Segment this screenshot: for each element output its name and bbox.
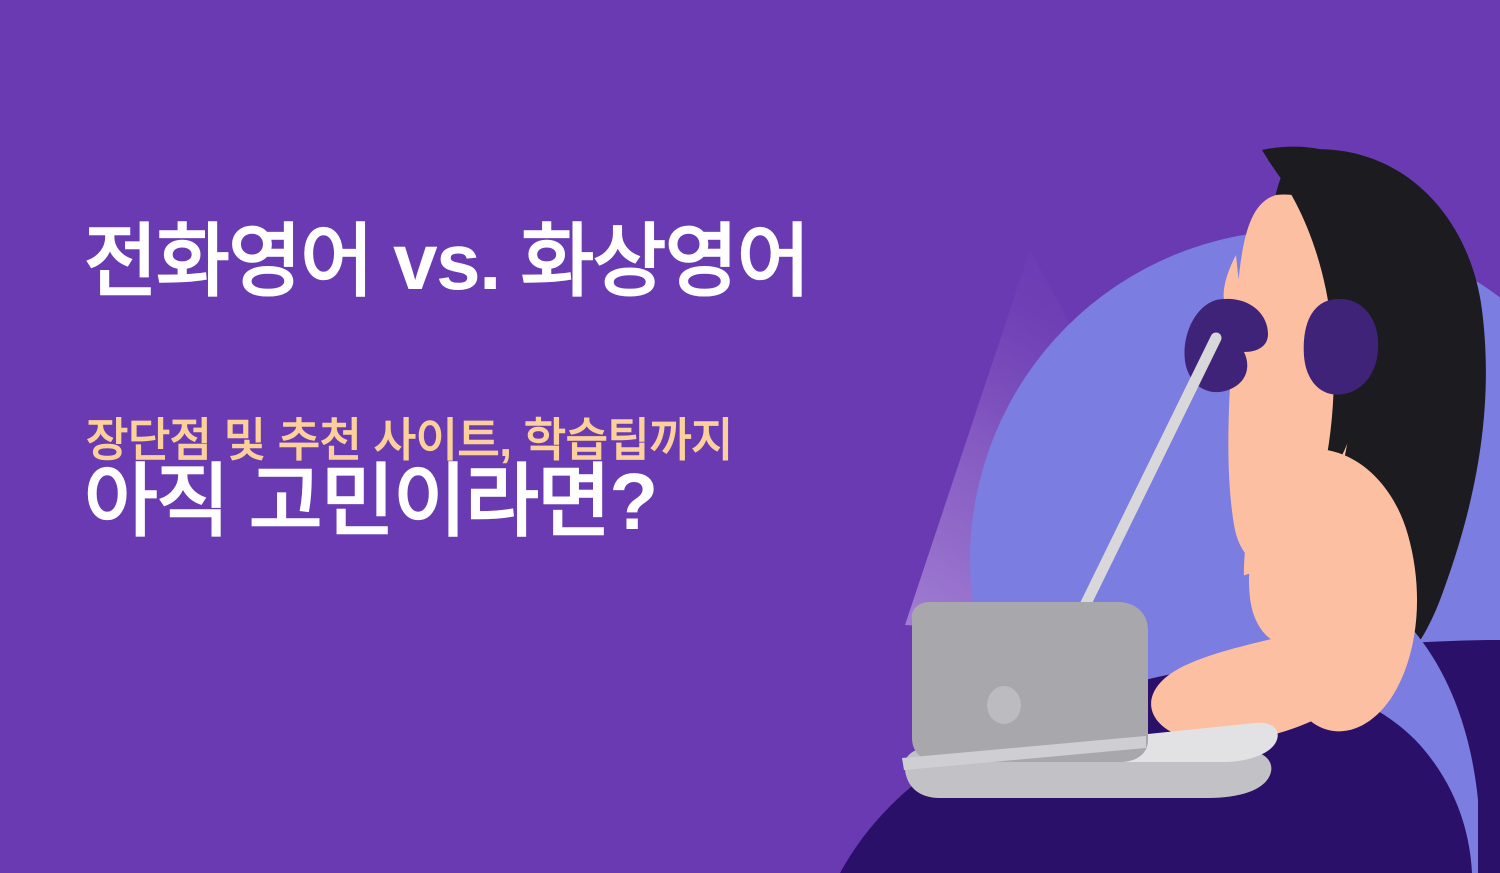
promo-banner: 전화영어 vs. 화상영어 아직 고민이라면? 장단점 및 추천 사이트, 학습… bbox=[0, 0, 1500, 873]
illustration bbox=[0, 0, 1500, 873]
laptop-lid bbox=[912, 602, 1148, 762]
laptop-logo-icon bbox=[987, 686, 1021, 724]
